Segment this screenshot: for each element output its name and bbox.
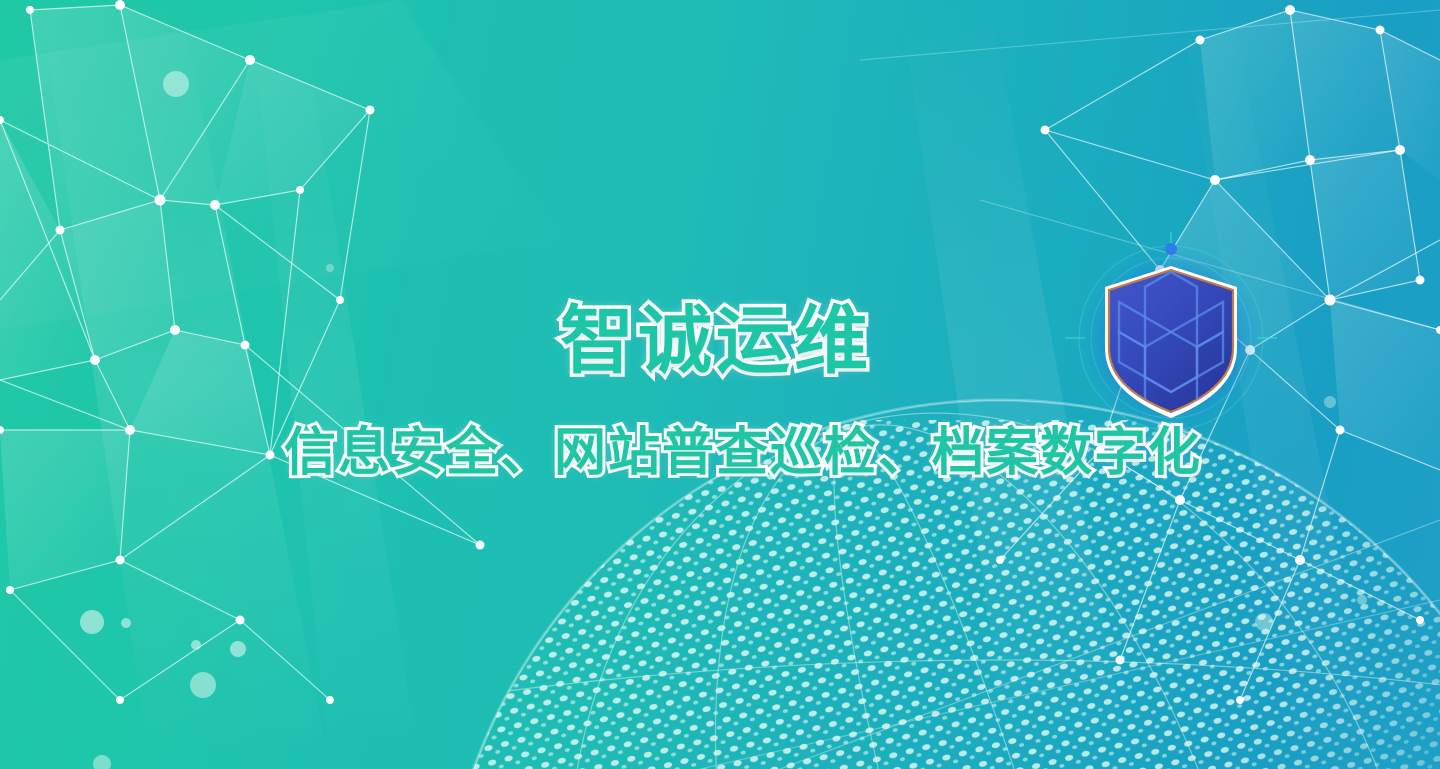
page-title: 智诚运维	[560, 296, 872, 386]
headline-block: 智诚运维 信息安全、网站普查巡检、档案数字化	[0, 0, 1440, 769]
hero-banner: 智诚运维 信息安全、网站普查巡检、档案数字化	[0, 0, 1440, 769]
page-subtitle: 信息安全、网站普查巡检、档案数字化	[284, 420, 1202, 486]
